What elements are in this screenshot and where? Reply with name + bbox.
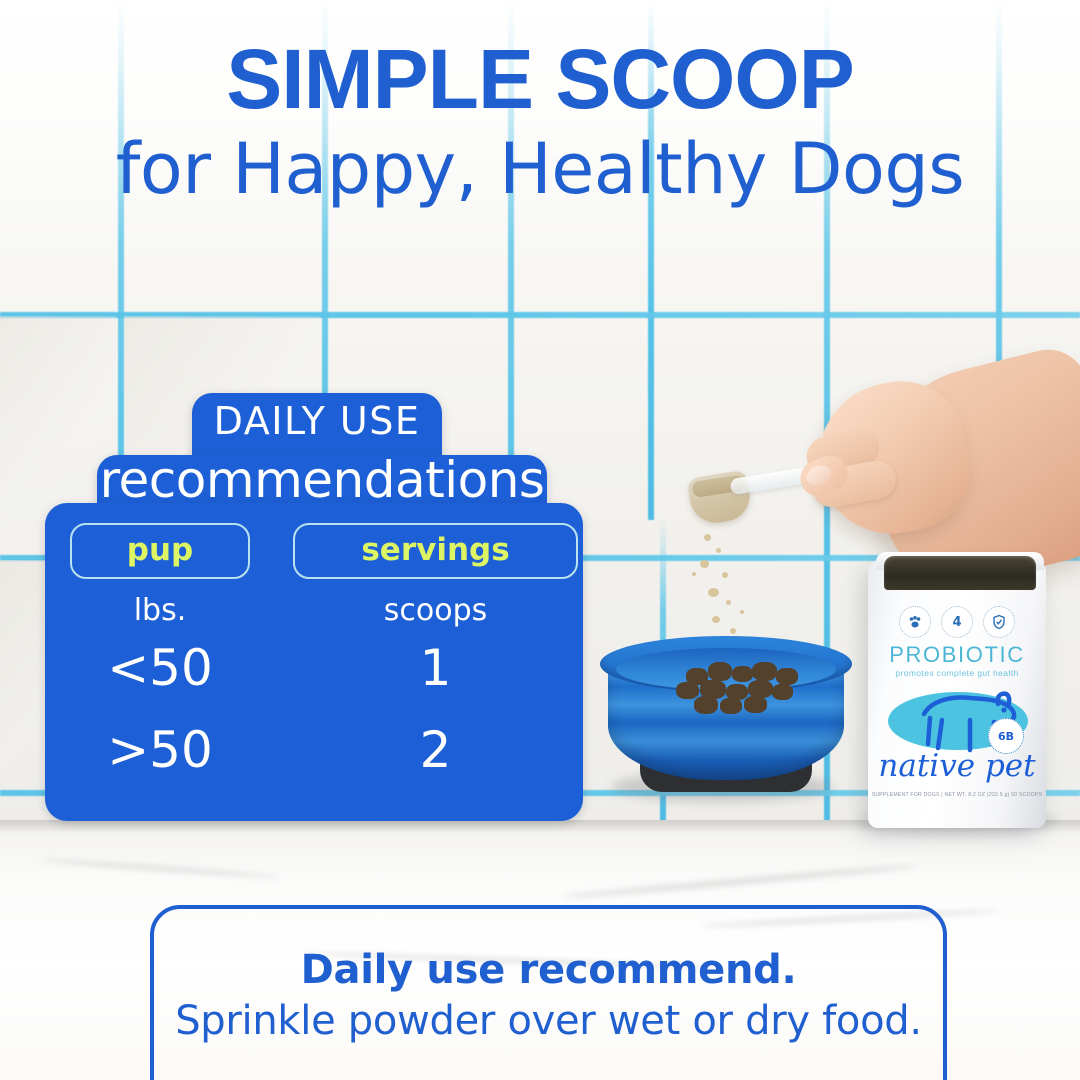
kibble-piece bbox=[676, 682, 699, 699]
strain-count-badge: 4 bbox=[941, 606, 973, 638]
powder-particle bbox=[700, 560, 709, 568]
page-title: SIMPLE SCOOP bbox=[0, 38, 1080, 120]
card-pill-row: pup servings bbox=[45, 523, 583, 579]
usage-callout-box: Daily use recommend. Sprinkle powder ove… bbox=[150, 905, 947, 1080]
tin-product-title: PROBIOTIC bbox=[868, 642, 1046, 668]
column-header-lbs: lbs. bbox=[70, 593, 250, 628]
table-row: <50 1 bbox=[45, 641, 583, 696]
cell-weight: <50 bbox=[70, 641, 250, 696]
column-header-scoops: scoops bbox=[293, 593, 578, 628]
callout-line-1: Daily use recommend. bbox=[154, 945, 943, 995]
paw-badge-icon bbox=[899, 606, 931, 638]
grout-line-horizontal bbox=[0, 312, 1080, 318]
poster-canvas: SIMPLE SCOOP for Happy, Healthy Dogs bbox=[0, 0, 1080, 1080]
kibble-piece bbox=[772, 684, 793, 700]
tin-brand-name: native pet bbox=[868, 748, 1046, 784]
daily-use-recommendations-card: DAILY USE recommendations pup servings l… bbox=[45, 393, 585, 821]
powder-particle bbox=[712, 616, 720, 623]
cell-scoops: 1 bbox=[293, 641, 578, 696]
kibble-piece bbox=[708, 662, 732, 681]
kibble-piece bbox=[694, 696, 718, 714]
card-heading: recommendations bbox=[97, 451, 547, 509]
quality-seal-icon bbox=[983, 606, 1015, 638]
cell-scoops: 2 bbox=[293, 723, 578, 778]
powder-particle bbox=[692, 572, 696, 576]
powder-particle bbox=[716, 548, 721, 553]
kibble-piece bbox=[776, 668, 798, 685]
kibble-piece bbox=[732, 666, 753, 682]
page-subtitle: for Happy, Healthy Dogs bbox=[0, 134, 1080, 204]
powder-particle bbox=[708, 588, 719, 597]
table-row: >50 2 bbox=[45, 723, 583, 778]
pill-pup[interactable]: pup bbox=[70, 523, 250, 579]
marble-vein bbox=[560, 862, 919, 900]
pill-servings[interactable]: servings bbox=[293, 523, 578, 579]
cell-weight: >50 bbox=[70, 723, 250, 778]
powder-particle bbox=[704, 534, 711, 541]
marble-vein bbox=[40, 858, 280, 880]
powder-particle bbox=[722, 572, 728, 578]
powder-particle bbox=[726, 600, 731, 605]
header-block: SIMPLE SCOOP for Happy, Healthy Dogs bbox=[0, 38, 1080, 204]
tin-product-subtitle: promotes complete gut health bbox=[868, 668, 1046, 678]
kibble-piece bbox=[752, 662, 777, 681]
card-eyebrow-label: DAILY USE bbox=[192, 399, 442, 443]
kibble-piece bbox=[720, 698, 742, 714]
powder-particle bbox=[730, 628, 736, 634]
table-column-headers: lbs. scoops bbox=[45, 593, 583, 628]
tin-badge-row: 4 bbox=[886, 606, 1028, 638]
tin-fine-print: SUPPLEMENT FOR DOGS | NET WT. 8.2 OZ (23… bbox=[868, 792, 1046, 798]
tin-open-top bbox=[884, 556, 1036, 590]
callout-line-2: Sprinkle powder over wet or dry food. bbox=[154, 995, 943, 1047]
kibble-piece bbox=[744, 696, 767, 713]
powder-particle bbox=[740, 610, 744, 614]
